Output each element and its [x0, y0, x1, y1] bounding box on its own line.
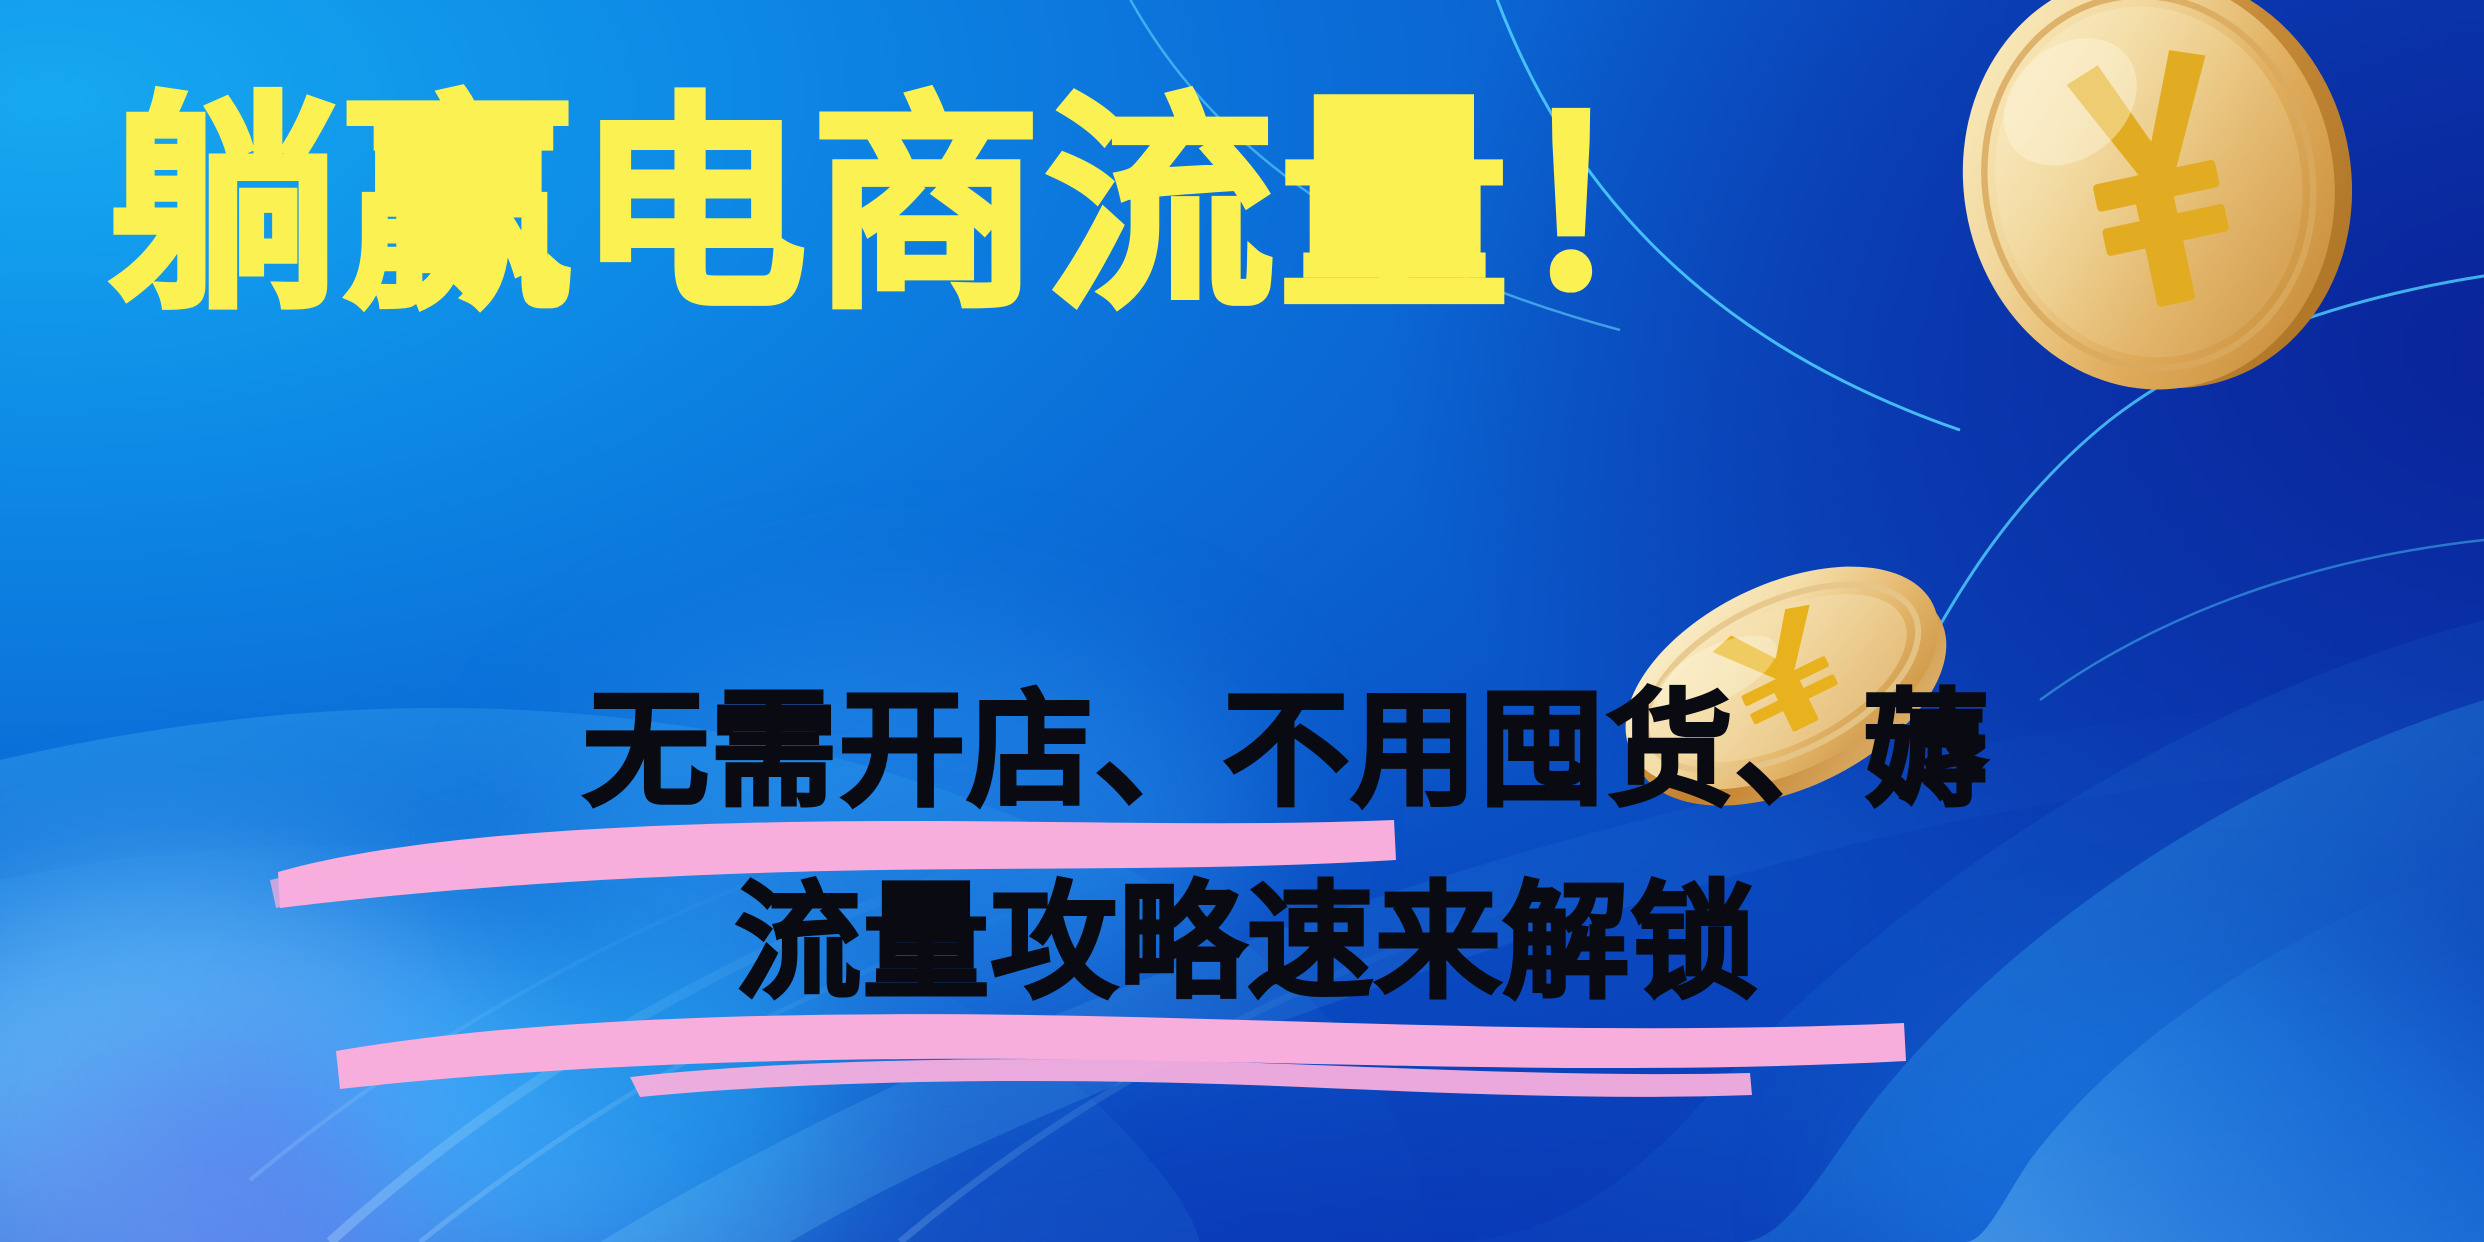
subheadline-line-2: 流量攻略速来解锁	[0, 847, 2484, 1039]
subheadline-line-1: 无需开店、不用囤货、薅	[0, 655, 2484, 847]
headline-text: 躺赢电商流量！	[110, 92, 2410, 320]
promo-banner: 躺赢电商流量！ 无需开店、不用囤货、薅 流量攻略速来解锁	[0, 0, 2484, 1242]
subheadline-block: 无需开店、不用囤货、薅 流量攻略速来解锁	[0, 655, 2484, 1038]
